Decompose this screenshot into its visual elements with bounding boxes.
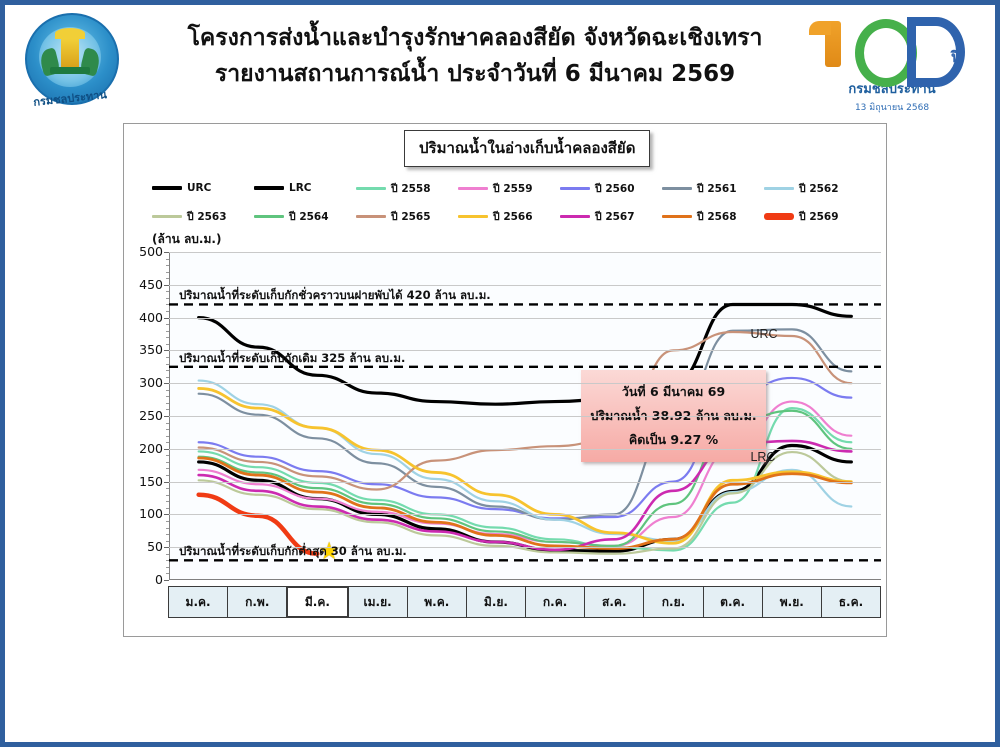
legend-label-lrc: LRC [289, 182, 311, 194]
royal-irrigation-department-seal-icon: กรมชลประทาน [17, 11, 125, 119]
title-line-1: โครงการส่งน้ำและบำรุงรักษาคลองสียัด จังห… [155, 21, 795, 57]
anniversary-year-unit: ปี [951, 45, 961, 69]
y-tick-label: 500 [123, 244, 163, 259]
legend-swatch-2560 [560, 187, 590, 190]
legend-label-2568: ปี 2568 [697, 208, 737, 225]
gridline [169, 514, 881, 515]
month-cell-2[interactable]: ก.พ. [227, 586, 287, 618]
month-cell-5[interactable]: พ.ค. [407, 586, 467, 618]
y-tick [164, 285, 169, 286]
y-minor-tick [166, 291, 169, 292]
legend-label-2565: ปี 2565 [391, 208, 431, 225]
anniversary-digit-1 [825, 21, 841, 67]
legend-label-2558: ปี 2558 [391, 180, 431, 197]
y-minor-tick [166, 272, 169, 273]
y-minor-tick [166, 541, 169, 542]
legend-swatch-lrc [254, 186, 284, 190]
y-minor-tick [166, 462, 169, 463]
y-minor-tick [166, 278, 169, 279]
legend-item-2568[interactable]: ปี 2568 [662, 208, 764, 225]
month-cell-12[interactable]: ธ.ค. [821, 586, 881, 618]
y-minor-tick [166, 337, 169, 338]
y-minor-tick [166, 370, 169, 371]
x-axis-month-labels: ม.ค.ก.พ.มี.ค.เม.ย.พ.ค.มิ.ย.ก.ค.ส.ค.ก.ย.ต… [169, 586, 881, 618]
legend-swatch-2561 [662, 187, 692, 190]
y-minor-tick [166, 423, 169, 424]
legend-item-2561[interactable]: ปี 2561 [662, 180, 764, 197]
page-header: กรมชลประทาน โครงการส่งน้ำและบำรุงรักษาคล… [5, 5, 995, 117]
y-tick-label: 350 [123, 342, 163, 357]
chart-legend: URCLRCปี 2558ปี 2559ปี 2560ปี 2561ปี 256… [152, 174, 868, 230]
month-cell-8[interactable]: ส.ค. [584, 586, 644, 618]
y-tick-label: 150 [123, 474, 163, 489]
legend-swatch-2559 [458, 187, 488, 190]
legend-item-2566[interactable]: ปี 2566 [458, 208, 560, 225]
plot-area: วันที่ 6 มีนาคม 69 ปริมาณน้ำ 38.92 ล้าน … [169, 252, 881, 580]
y-minor-tick [166, 298, 169, 299]
y-tick [164, 318, 169, 319]
month-cell-9[interactable]: ก.ย. [643, 586, 703, 618]
gridline [169, 252, 881, 253]
y-tick-label: 50 [123, 539, 163, 554]
legend-swatch-2566 [458, 215, 488, 218]
legend-item-2558[interactable]: ปี 2558 [356, 180, 458, 197]
reference-line-label-30: ปริมาณน้ำที่ระดับเก็บกักต่ำสุด 30 ล้าน ล… [179, 543, 407, 561]
y-tick [164, 482, 169, 483]
legend-label-2569: ปี 2569 [799, 208, 839, 225]
legend-swatch-2558 [356, 187, 386, 190]
anniversary-mark-icon: ปี [807, 15, 977, 77]
y-minor-tick [166, 331, 169, 332]
y-minor-tick [166, 436, 169, 437]
legend-label-2560: ปี 2560 [595, 180, 635, 197]
y-minor-tick [166, 573, 169, 574]
title-line-2: รายงานสถานการณ์น้ำ ประจำวันที่ 6 มีนาคม … [155, 57, 795, 93]
month-cell-7[interactable]: ก.ค. [525, 586, 585, 618]
seal-throne-icon [61, 37, 79, 67]
month-cell-1[interactable]: ม.ค. [168, 586, 228, 618]
y-tick-label: 0 [123, 572, 163, 587]
gridline [169, 416, 881, 417]
legend-row: ปี 2563ปี 2564ปี 2565ปี 2566ปี 2567ปี 25… [152, 202, 868, 230]
y-minor-tick [166, 403, 169, 404]
y-minor-tick [166, 554, 169, 555]
month-cell-10[interactable]: ต.ค. [703, 586, 763, 618]
y-minor-tick [166, 357, 169, 358]
legend-swatch-2565 [356, 215, 386, 218]
y-tick-label: 450 [123, 277, 163, 292]
reference-line-label-420: ปริมาณน้ำที่ระดับเก็บกักชั่วคราวบนฝายพับ… [179, 287, 491, 305]
anniversary-date: 13 มิถุนายน 2568 [807, 100, 977, 114]
legend-label-2564: ปี 2564 [289, 208, 329, 225]
reference-line-label-325: ปริมาณน้ำที่ระดับเก็บกักเดิม 325 ล้าน ลบ… [179, 350, 405, 368]
y-minor-tick [166, 311, 169, 312]
gridline [169, 482, 881, 483]
y-minor-tick [166, 455, 169, 456]
gridline [169, 383, 881, 384]
y-tick [164, 580, 169, 581]
legend-item-urc[interactable]: URC [152, 182, 254, 194]
legend-swatch-2563 [152, 215, 182, 218]
seal-base [50, 67, 90, 74]
y-tick [164, 416, 169, 417]
y-minor-tick [166, 259, 169, 260]
y-tick-label: 200 [123, 441, 163, 456]
legend-label-2561: ปี 2561 [697, 180, 737, 197]
month-cell-11[interactable]: พ.ย. [762, 586, 822, 618]
y-minor-tick [166, 528, 169, 529]
legend-swatch-2567 [560, 215, 590, 218]
y-minor-tick [166, 409, 169, 410]
y-minor-tick [166, 560, 169, 561]
gridline [169, 285, 881, 286]
legend-swatch-2564 [254, 215, 284, 218]
y-minor-tick [166, 396, 169, 397]
y-minor-tick [166, 390, 169, 391]
y-minor-tick [166, 304, 169, 305]
y-minor-tick [166, 377, 169, 378]
y-minor-tick [166, 501, 169, 502]
y-minor-tick [166, 344, 169, 345]
legend-label-2566: ปี 2566 [493, 208, 533, 225]
y-minor-tick [166, 534, 169, 535]
legend-item-lrc[interactable]: LRC [254, 182, 356, 194]
month-cell-6[interactable]: มิ.ย. [466, 586, 526, 618]
inline-label-lrc: LRC [750, 450, 775, 464]
legend-swatch-2568 [662, 215, 692, 218]
y-tick-label: 400 [123, 310, 163, 325]
y-minor-tick [166, 521, 169, 522]
y-minor-tick [166, 508, 169, 509]
chart-title: ปริมาณน้ำในอ่างเก็บน้ำคลองสียัด [404, 130, 650, 167]
y-minor-tick [166, 567, 169, 568]
month-cell-4[interactable]: เม.ย. [348, 586, 408, 618]
month-cell-3[interactable]: มี.ค. [286, 586, 348, 618]
y-tick [164, 350, 169, 351]
y-minor-tick [166, 442, 169, 443]
y-tick [164, 252, 169, 253]
y-minor-tick [166, 265, 169, 266]
legend-item-2562[interactable]: ปี 2562 [764, 180, 866, 197]
legend-swatch-urc [152, 186, 182, 190]
y-tick-label: 300 [123, 375, 163, 390]
y-tick-label: 250 [123, 408, 163, 423]
chart-panel: ปริมาณน้ำในอ่างเก็บน้ำคลองสียัด URCLRCปี… [123, 123, 887, 637]
y-tick [164, 547, 169, 548]
y-minor-tick [166, 475, 169, 476]
slide-page: กรมชลประทาน โครงการส่งน้ำและบำรุงรักษาคล… [0, 0, 1000, 747]
legend-label-2562: ปี 2562 [799, 180, 839, 197]
legend-item-2564[interactable]: ปี 2564 [254, 208, 356, 225]
legend-item-2563[interactable]: ปี 2563 [152, 208, 254, 225]
gridline [169, 318, 881, 319]
legend-row: URCLRCปี 2558ปี 2559ปี 2560ปี 2561ปี 256… [152, 174, 868, 202]
legend-item-2559[interactable]: ปี 2559 [458, 180, 560, 197]
y-minor-tick [166, 468, 169, 469]
y-tick-label: 100 [123, 506, 163, 521]
legend-swatch-2562 [764, 187, 794, 190]
anniversary-logo: ปี กรมชลประทาน 13 มิถุนายน 2568 [807, 15, 977, 115]
y-minor-tick [166, 429, 169, 430]
y-tick [164, 383, 169, 384]
y-minor-tick [166, 495, 169, 496]
y-tick [164, 514, 169, 515]
legend-label-2563: ปี 2563 [187, 208, 227, 225]
legend-item-2567[interactable]: ปี 2567 [560, 208, 662, 225]
y-minor-tick [166, 364, 169, 365]
page-title: โครงการส่งน้ำและบำรุงรักษาคลองสียัด จังห… [155, 21, 795, 92]
y-tick [164, 449, 169, 450]
legend-label-2559: ปี 2559 [493, 180, 533, 197]
y-minor-tick [166, 488, 169, 489]
legend-item-2560[interactable]: ปี 2560 [560, 180, 662, 197]
legend-item-2569[interactable]: ปี 2569 [764, 208, 866, 225]
y-minor-tick [166, 324, 169, 325]
legend-swatch-2569 [764, 213, 794, 220]
legend-label-urc: URC [187, 182, 211, 194]
legend-item-2565[interactable]: ปี 2565 [356, 208, 458, 225]
inline-label-urc: URC [750, 327, 777, 341]
legend-label-2567: ปี 2567 [595, 208, 635, 225]
